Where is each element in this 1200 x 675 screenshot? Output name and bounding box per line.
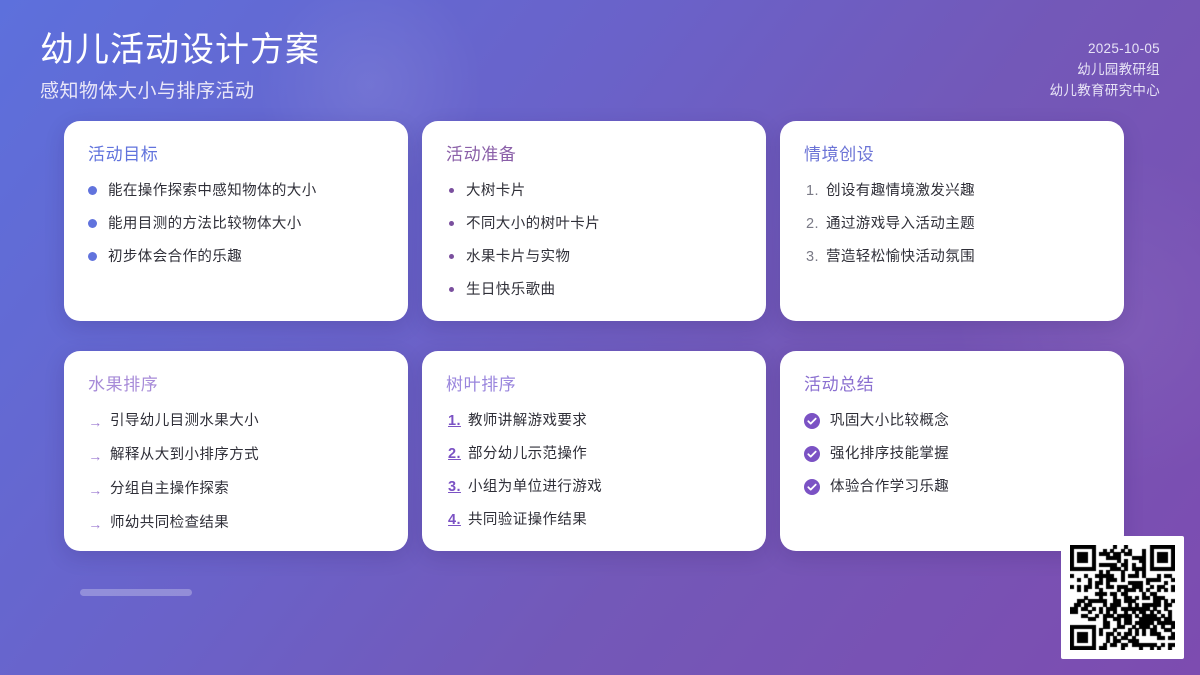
card-list: 1.创设有趣情境激发兴趣2.通过游戏导入活动主题3.营造轻松愉快活动氛围 [804, 181, 1100, 267]
list-item: →引导幼儿目测水果大小 [88, 411, 384, 432]
bullet-dot-icon [449, 188, 454, 193]
list-item: 大树卡片 [446, 181, 742, 201]
list-item-text: 通过游戏导入活动主题 [826, 214, 975, 234]
list-item-text: 大树卡片 [466, 181, 526, 201]
arrow-right-icon: → [88, 480, 103, 500]
list-item-text: 引导幼儿目测水果大小 [110, 411, 259, 431]
card-list: →引导幼儿目测水果大小→解释从大到小排序方式→分组自主操作探索→师幼共同检查结果 [88, 411, 384, 534]
card-list: 大树卡片不同大小的树叶卡片水果卡片与实物生日快乐歌曲 [446, 181, 742, 300]
card-title: 情境创设 [804, 143, 1100, 167]
list-item-text: 不同大小的树叶卡片 [466, 214, 600, 234]
list-number: 2. [804, 214, 821, 234]
arrow-right-icon: → [88, 412, 103, 432]
list-item-text: 能用目测的方法比较物体大小 [108, 214, 302, 234]
list-item-text: 部分幼儿示范操作 [468, 444, 587, 464]
bullet-dot-icon [88, 252, 97, 261]
list-item: 2.部分幼儿示范操作 [446, 444, 742, 464]
list-item-text: 师幼共同检查结果 [110, 513, 229, 533]
card-title: 活动目标 [88, 143, 384, 167]
content-card: 活动准备大树卡片不同大小的树叶卡片水果卡片与实物生日快乐歌曲 [422, 121, 766, 321]
list-item-text: 教师讲解游戏要求 [468, 411, 587, 431]
list-item-text: 小组为单位进行游戏 [468, 477, 602, 497]
slide-header: 幼儿活动设计方案 感知物体大小与排序活动 2025-10-05 幼儿园教研组 幼… [40, 28, 1160, 114]
list-item-text: 体验合作学习乐趣 [830, 477, 949, 497]
check-circle-icon [804, 479, 820, 495]
bullet-dot-icon [88, 186, 97, 195]
check-circle-icon [804, 446, 820, 462]
content-card: 水果排序→引导幼儿目测水果大小→解释从大到小排序方式→分组自主操作探索→师幼共同… [64, 351, 408, 551]
card-grid: 活动目标能在操作探索中感知物体的大小能用目测的方法比较物体大小初步体会合作的乐趣… [64, 121, 1136, 551]
list-item-text: 分组自主操作探索 [110, 479, 229, 499]
list-item: 3.小组为单位进行游戏 [446, 477, 742, 497]
list-item: 4.共同验证操作结果 [446, 510, 742, 530]
list-number: 3. [446, 477, 463, 497]
card-title: 活动准备 [446, 143, 742, 167]
meta-date: 2025-10-05 [1050, 38, 1160, 59]
list-item-text: 能在操作探索中感知物体的大小 [108, 181, 317, 201]
list-item-text: 水果卡片与实物 [466, 247, 570, 267]
content-card: 情境创设1.创设有趣情境激发兴趣2.通过游戏导入活动主题3.营造轻松愉快活动氛围 [780, 121, 1124, 321]
content-card: 树叶排序1.教师讲解游戏要求2.部分幼儿示范操作3.小组为单位进行游戏4.共同验… [422, 351, 766, 551]
arrow-right-icon: → [88, 446, 103, 466]
bullet-dot-icon [449, 254, 454, 259]
arrow-right-icon: → [88, 514, 103, 534]
bullet-dot-icon [449, 221, 454, 226]
qr-code-image [1070, 545, 1175, 650]
check-circle-icon [804, 413, 820, 429]
qr-code[interactable] [1061, 536, 1184, 659]
list-item: 不同大小的树叶卡片 [446, 214, 742, 234]
decorative-bar [80, 589, 192, 596]
list-item: 体验合作学习乐趣 [804, 477, 1100, 497]
list-item: →师幼共同检查结果 [88, 513, 384, 534]
list-number: 3. [804, 247, 821, 267]
content-card: 活动总结巩固大小比较概念强化排序技能掌握体验合作学习乐趣 [780, 351, 1124, 551]
list-item: 能用目测的方法比较物体大小 [88, 214, 384, 234]
list-number: 4. [446, 510, 463, 530]
card-list: 巩固大小比较概念强化排序技能掌握体验合作学习乐趣 [804, 411, 1100, 497]
meta-organization: 幼儿园教研组 [1050, 59, 1160, 80]
list-item: 1.教师讲解游戏要求 [446, 411, 742, 431]
card-title: 活动总结 [804, 373, 1100, 397]
list-number: 2. [446, 444, 463, 464]
list-item: 巩固大小比较概念 [804, 411, 1100, 431]
list-item: 1.创设有趣情境激发兴趣 [804, 181, 1100, 201]
card-title: 树叶排序 [446, 373, 742, 397]
list-item: →分组自主操作探索 [88, 479, 384, 500]
list-item-text: 解释从大到小排序方式 [110, 445, 259, 465]
list-item-text: 生日快乐歌曲 [466, 280, 555, 300]
page-subtitle: 感知物体大小与排序活动 [40, 76, 1160, 103]
meta-center: 幼儿教育研究中心 [1050, 80, 1160, 101]
list-item: 3.营造轻松愉快活动氛围 [804, 247, 1100, 267]
list-number: 1. [446, 411, 463, 431]
list-number: 1. [804, 181, 821, 201]
list-item-text: 营造轻松愉快活动氛围 [826, 247, 975, 267]
list-item-text: 初步体会合作的乐趣 [108, 247, 242, 267]
list-item: →解释从大到小排序方式 [88, 445, 384, 466]
list-item: 初步体会合作的乐趣 [88, 247, 384, 267]
list-item: 水果卡片与实物 [446, 247, 742, 267]
list-item-text: 强化排序技能掌握 [830, 444, 949, 464]
list-item: 2.通过游戏导入活动主题 [804, 214, 1100, 234]
header-meta: 2025-10-05 幼儿园教研组 幼儿教育研究中心 [1050, 38, 1160, 101]
card-list: 能在操作探索中感知物体的大小能用目测的方法比较物体大小初步体会合作的乐趣 [88, 181, 384, 267]
list-item: 生日快乐歌曲 [446, 280, 742, 300]
card-title: 水果排序 [88, 373, 384, 397]
content-card: 活动目标能在操作探索中感知物体的大小能用目测的方法比较物体大小初步体会合作的乐趣 [64, 121, 408, 321]
list-item-text: 创设有趣情境激发兴趣 [826, 181, 975, 201]
page-title: 幼儿活动设计方案 [40, 28, 1160, 72]
bullet-dot-icon [449, 287, 454, 292]
list-item: 强化排序技能掌握 [804, 444, 1100, 464]
list-item-text: 共同验证操作结果 [468, 510, 587, 530]
card-list: 1.教师讲解游戏要求2.部分幼儿示范操作3.小组为单位进行游戏4.共同验证操作结… [446, 411, 742, 530]
bullet-dot-icon [88, 219, 97, 228]
list-item-text: 巩固大小比较概念 [830, 411, 949, 431]
list-item: 能在操作探索中感知物体的大小 [88, 181, 384, 201]
